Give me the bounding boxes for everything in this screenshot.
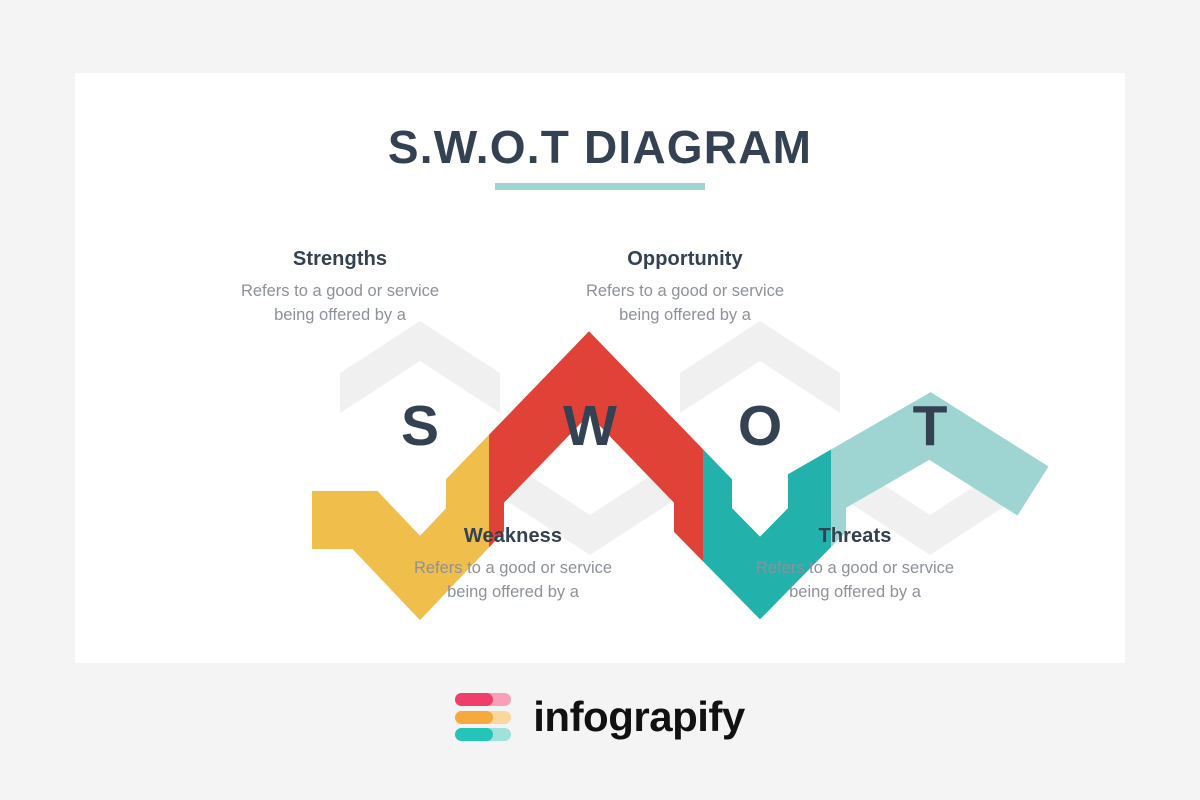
brand-logo: infograpify (0, 693, 1200, 741)
weakness-heading: Weakness (363, 525, 663, 548)
quadrant-label-weakness: Weakness Refers to a good or service bei… (363, 525, 663, 605)
logo-bar-teal-dark (455, 728, 493, 741)
weakness-body-line2: being offered by a (447, 583, 579, 601)
letter-o: O (720, 398, 800, 455)
threats-body: Refers to a good or service being offere… (705, 557, 1005, 605)
strengths-body-line1: Refers to a good or service (241, 282, 439, 300)
opportunity-body-line1: Refers to a good or service (586, 282, 784, 300)
letter-s: S (380, 398, 460, 455)
quadrant-label-threats: Threats Refers to a good or service bein… (705, 525, 1005, 605)
brand-name: infograpify (533, 693, 745, 741)
swot-zigzag-diagram: S W O T Strengths Refers to a good or se… (75, 73, 1125, 663)
letter-t: T (890, 398, 970, 455)
strengths-body-line2: being offered by a (274, 306, 406, 324)
slide-card: S.W.O.T DIAGRAM (75, 73, 1125, 663)
quadrant-label-opportunity: Opportunity Refers to a good or service … (535, 248, 835, 328)
infograpify-logo-icon (455, 693, 511, 741)
opportunity-heading: Opportunity (535, 248, 835, 271)
opportunity-body-line2: being offered by a (619, 306, 751, 324)
logo-bar-pink-dark (455, 693, 493, 706)
opportunity-body: Refers to a good or service being offere… (535, 280, 835, 328)
threats-body-line2: being offered by a (789, 583, 921, 601)
threats-body-line1: Refers to a good or service (756, 559, 954, 577)
quadrant-label-strengths: Strengths Refers to a good or service be… (190, 248, 490, 328)
logo-bar-pink (455, 693, 511, 706)
logo-bar-orange-dark (455, 711, 493, 724)
letter-w: W (550, 398, 630, 455)
strengths-body: Refers to a good or service being offere… (190, 280, 490, 328)
weakness-body: Refers to a good or service being offere… (363, 557, 663, 605)
threats-heading: Threats (705, 525, 1005, 548)
logo-bar-teal (455, 728, 511, 741)
weakness-body-line1: Refers to a good or service (414, 559, 612, 577)
infographic-canvas: S.W.O.T DIAGRAM (0, 0, 1200, 800)
logo-bar-orange (455, 711, 511, 724)
strengths-heading: Strengths (190, 248, 490, 271)
